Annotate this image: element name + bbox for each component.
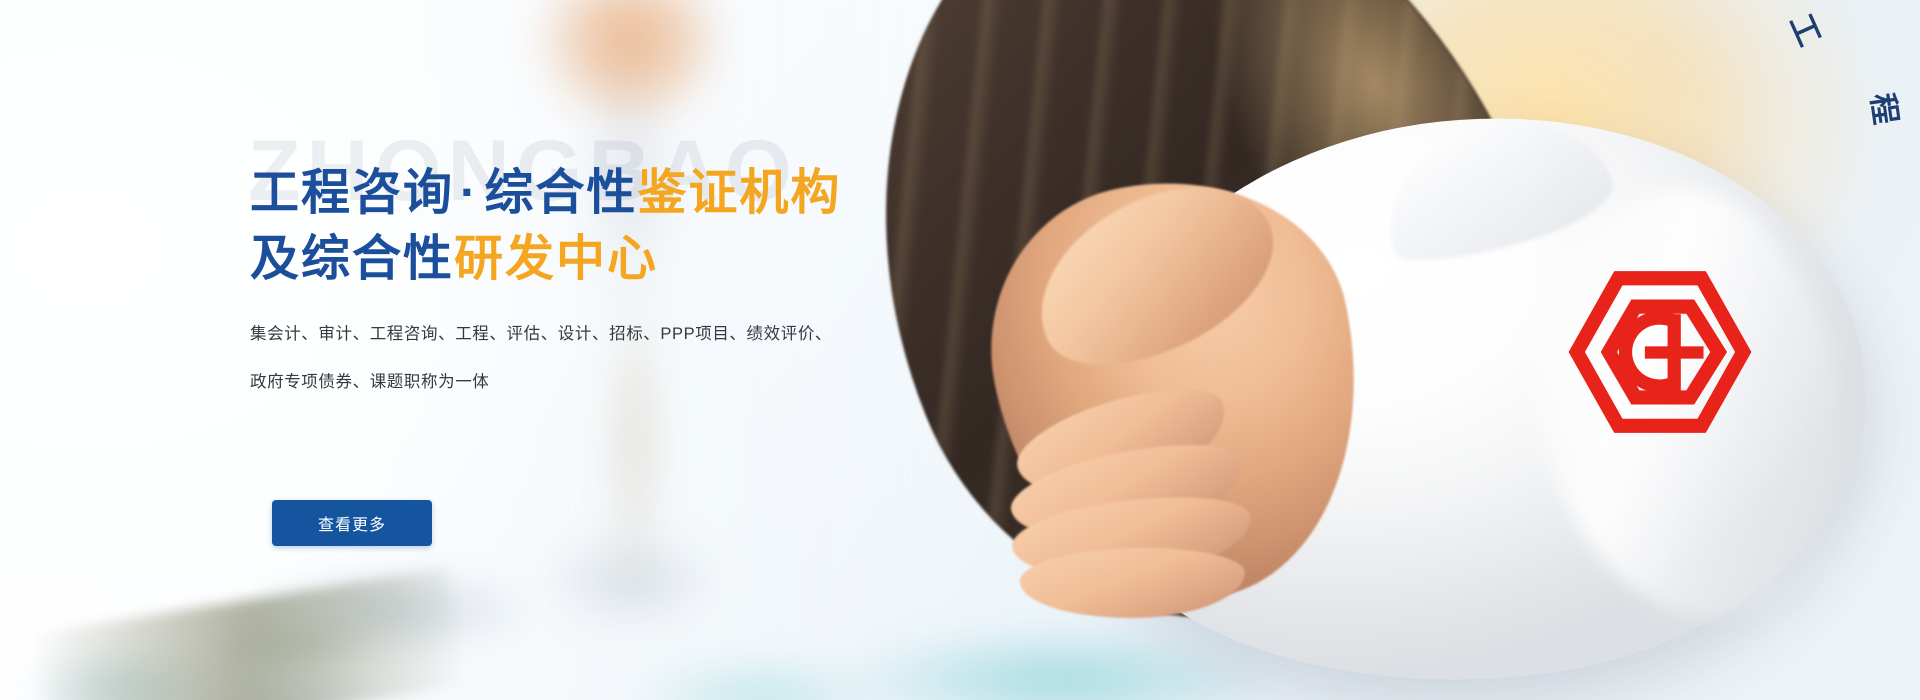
hero-headline-line-2: 及综合性研发中心 (250, 226, 841, 292)
hero-banner: 中 宝 工 程 管 理 ZHONGBAO 工程咨询·综合性鉴证机构 及综合性研发… (0, 0, 1920, 700)
hero-headline-line-1: 工程咨询·综合性鉴证机构 (250, 160, 841, 226)
headline-segment-blue-2: 综合性 (484, 166, 637, 220)
helmet-arc-char: 程 (1863, 90, 1912, 127)
headline-segment-orange: 鉴证机构 (637, 166, 841, 220)
headline-segment-blue: 工程咨询 (250, 166, 454, 220)
hero-subtitle: 集会计、审计、工程咨询、工程、评估、设计、招标、PPP项目、绩效评价、 政府专项… (250, 310, 832, 406)
hero-headline: 工程咨询·综合性鉴证机构 及综合性研发中心 (250, 160, 841, 292)
helmet-arc-text: 中 宝 工 程 管 理 (1400, 140, 1730, 560)
headline-separator-dot: · (454, 166, 484, 220)
hero-subtitle-line-2: 政府专项债券、课题职称为一体 (250, 358, 832, 406)
view-more-button[interactable]: 查看更多 (272, 500, 432, 546)
headline-segment-blue-3: 及综合性 (250, 232, 454, 286)
hero-subtitle-line-1: 集会计、审计、工程咨询、工程、评估、设计、招标、PPP项目、绩效评价、 (250, 310, 832, 358)
headline-segment-orange-2: 研发中心 (454, 232, 658, 286)
